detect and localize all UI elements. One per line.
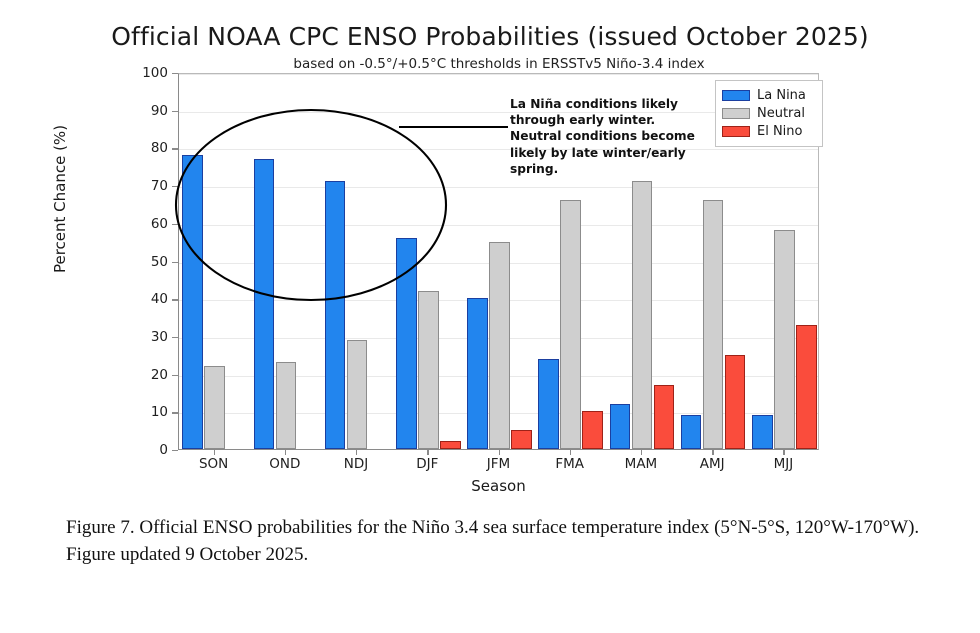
bar-djf-neutral [418, 291, 439, 449]
bar-amj-neutral [703, 200, 724, 449]
legend-item-neutral[interactable]: Neutral [722, 104, 816, 122]
bar-fma-elnino [582, 411, 603, 449]
bar-mam-neutral [632, 181, 653, 449]
y-tick-label: 10 [126, 404, 168, 420]
bar-mam-elnino [654, 385, 675, 449]
legend-swatch-lanina-icon [722, 90, 750, 101]
bar-jfm-neutral [489, 242, 510, 449]
bar-djf-elnino [440, 441, 461, 449]
x-tick-mark [499, 450, 500, 455]
y-tick-mark [172, 412, 178, 413]
bar-ond-neutral [276, 362, 297, 449]
y-tick-mark [172, 224, 178, 225]
bar-mam-lanina [610, 404, 631, 449]
gridline [179, 149, 818, 150]
y-tick-mark [172, 299, 178, 300]
y-tick-mark [172, 148, 178, 149]
y-tick-label: 20 [126, 367, 168, 383]
enso-probability-figure: Official NOAA CPC ENSO Probabilities (is… [0, 0, 980, 633]
legend-swatch-elnino-icon [722, 126, 750, 137]
x-tick-mark [570, 450, 571, 455]
bar-mjj-lanina [752, 415, 773, 449]
y-tick-mark [172, 186, 178, 187]
y-tick-label: 70 [126, 178, 168, 194]
legend-label: La Nina [757, 88, 806, 103]
bar-amj-elnino [725, 355, 746, 449]
bar-djf-lanina [396, 238, 417, 449]
y-tick-mark [172, 450, 178, 451]
y-tick-label: 80 [126, 140, 168, 156]
bar-fma-neutral [560, 200, 581, 449]
bar-ndj-neutral [347, 340, 368, 449]
x-tick-mark [712, 450, 713, 455]
bar-jfm-elnino [511, 430, 532, 449]
y-tick-label: 40 [126, 291, 168, 307]
bar-ond-lanina [254, 159, 275, 449]
legend-label: Neutral [757, 106, 805, 121]
chart-title: Official NOAA CPC ENSO Probabilities (is… [0, 22, 980, 51]
y-tick-mark [172, 262, 178, 263]
gridline [179, 74, 818, 75]
legend-item-lanina[interactable]: La Nina [722, 86, 816, 104]
annotation-callout-text: La Niña conditions likely through early … [510, 96, 710, 177]
figure-caption: Figure 7. Official ENSO probabilities fo… [66, 515, 936, 569]
y-tick-label: 90 [126, 103, 168, 119]
y-tick-mark [172, 73, 178, 74]
bar-jfm-lanina [467, 298, 488, 449]
legend-label: El Nino [757, 124, 803, 139]
bar-mjj-neutral [774, 230, 795, 449]
gridline [179, 187, 818, 188]
y-tick-mark [172, 337, 178, 338]
y-axis-label: Percent Chance (%) [51, 79, 69, 319]
x-tick-mark [356, 450, 357, 455]
legend-swatch-neutral-icon [722, 108, 750, 119]
y-tick-label: 30 [126, 329, 168, 345]
x-tick-label-mjj: MJJ [738, 456, 828, 472]
bar-son-lanina [182, 155, 203, 449]
y-tick-label: 50 [126, 254, 168, 270]
chart-subtitle: based on -0.5°/+0.5°C thresholds in ERSS… [178, 56, 820, 72]
x-tick-mark [214, 450, 215, 455]
x-tick-mark [783, 450, 784, 455]
x-tick-mark [285, 450, 286, 455]
bar-ndj-lanina [325, 181, 346, 449]
y-tick-label: 60 [126, 216, 168, 232]
bar-mjj-elnino [796, 325, 817, 449]
y-tick-mark [172, 111, 178, 112]
chart-legend: La NinaNeutralEl Nino [715, 80, 823, 147]
y-tick-label: 0 [126, 442, 168, 458]
bar-amj-lanina [681, 415, 702, 449]
x-tick-mark [427, 450, 428, 455]
y-tick-mark [172, 375, 178, 376]
bar-fma-lanina [538, 359, 559, 449]
y-tick-label: 100 [126, 65, 168, 81]
x-tick-mark [641, 450, 642, 455]
x-axis-label: Season [178, 477, 819, 495]
legend-item-elnino[interactable]: El Nino [722, 122, 816, 140]
bar-son-neutral [204, 366, 225, 449]
